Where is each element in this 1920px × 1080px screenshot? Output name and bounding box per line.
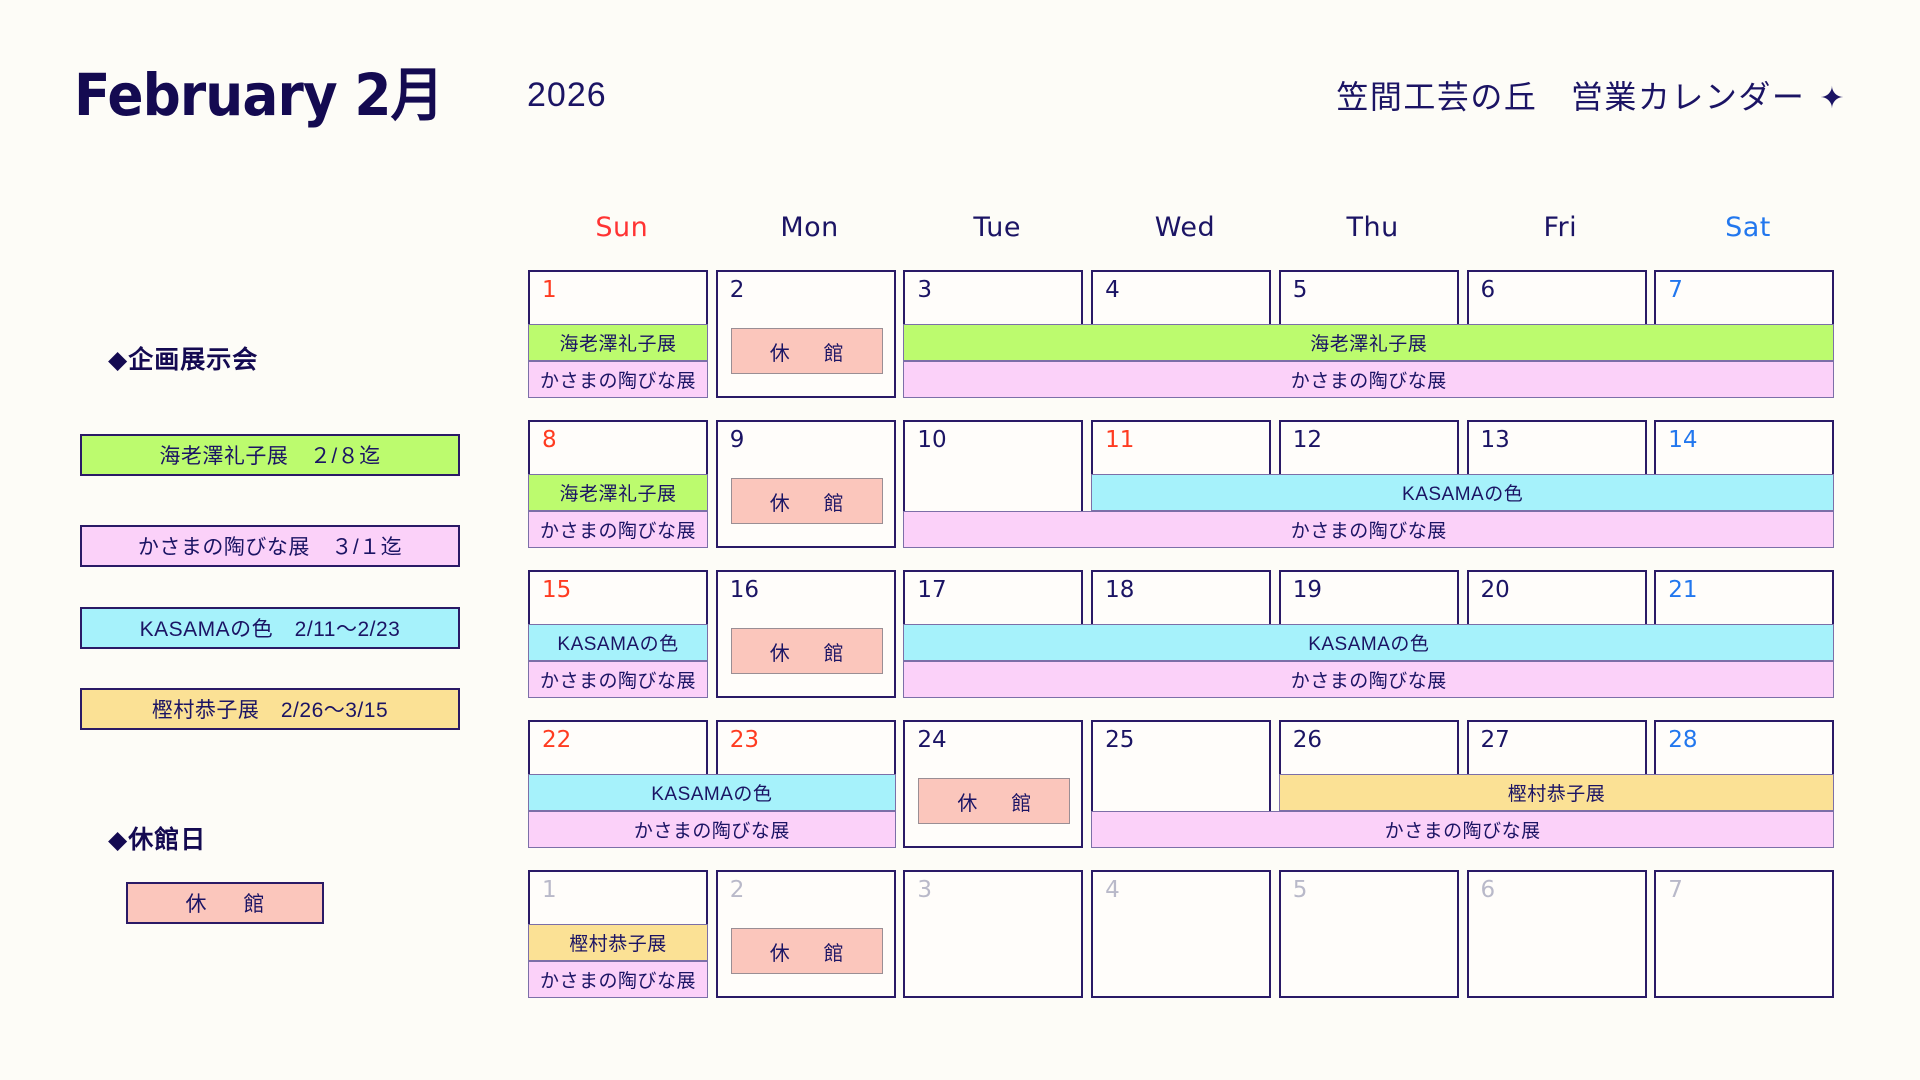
closed-badge: 休 館 — [731, 328, 883, 374]
legend-item[interactable]: かさまの陶びな展 ３/１迄 — [80, 525, 460, 567]
weekday-label-mon: Mon — [716, 212, 904, 270]
event-bar[interactable]: かさまの陶びな展 — [903, 661, 1834, 698]
day-number: 28 — [1668, 727, 1697, 753]
day-number: 11 — [1105, 427, 1134, 453]
legend-item[interactable]: 海老澤礼子展 ２/８迄 — [80, 434, 460, 476]
legend-closed-heading: ◆休館日 — [108, 820, 206, 856]
venue-title: 笠間工芸の丘 営業カレンダー✦ — [1336, 72, 1846, 118]
event-bar[interactable]: 樫村恭子展 — [1279, 774, 1834, 811]
event-bar[interactable]: 海老澤礼子展 — [528, 474, 708, 511]
weekday-label-fri: Fri — [1466, 212, 1654, 270]
calendar-day-cell[interactable]: 2休 館 — [716, 870, 896, 998]
day-number: 17 — [917, 577, 946, 603]
day-number: 14 — [1668, 427, 1697, 453]
calendar-week-row: 222324休 館25262728KASAMAの色かさまの陶びな展樫村恭子展かさ… — [528, 720, 1842, 870]
calendar-day-cell[interactable]: 5 — [1279, 870, 1459, 998]
day-number: 6 — [1481, 277, 1496, 303]
closed-badge: 休 館 — [918, 778, 1070, 824]
closed-badge: 休 館 — [731, 478, 883, 524]
day-number: 10 — [917, 427, 946, 453]
legend-exhibitions-heading: ◆企画展示会 — [108, 340, 258, 376]
event-bar[interactable]: KASAMAの色 — [903, 624, 1834, 661]
day-number: 1 — [542, 877, 557, 903]
day-number: 12 — [1293, 427, 1322, 453]
calendar-day-cell[interactable]: 2休 館 — [716, 270, 896, 398]
day-number: 18 — [1105, 577, 1134, 603]
event-bar[interactable]: かさまの陶びな展 — [903, 511, 1834, 548]
calendar-grid: SunMonTueWedThuFriSat 12休 館34567海老澤礼子展かさ… — [528, 212, 1842, 1020]
calendar-day-cell[interactable]: 24休 館 — [903, 720, 1083, 848]
calendar-week-row: 89休 館1011121314海老澤礼子展かさまの陶びな展KASAMAの色かさま… — [528, 420, 1842, 570]
day-number: 16 — [730, 577, 759, 603]
day-number: 8 — [542, 427, 557, 453]
calendar-week-row: 1516休 館1718192021KASAMAの色かさまの陶びな展KASAMAの… — [528, 570, 1842, 720]
day-number: 5 — [1293, 277, 1308, 303]
calendar-day-cell[interactable]: 4 — [1091, 870, 1271, 998]
event-bar[interactable]: かさまの陶びな展 — [528, 811, 896, 848]
event-bar[interactable]: 海老澤礼子展 — [903, 324, 1834, 361]
event-bar[interactable]: かさまの陶びな展 — [528, 961, 708, 998]
event-bar[interactable]: かさまの陶びな展 — [528, 661, 708, 698]
day-number: 23 — [730, 727, 759, 753]
event-bar[interactable]: KASAMAの色 — [528, 774, 896, 811]
day-number: 2 — [730, 277, 745, 303]
event-bar[interactable]: KASAMAの色 — [1091, 474, 1834, 511]
calendar-day-cell[interactable]: 9休 館 — [716, 420, 896, 548]
closed-badge: 休 館 — [731, 928, 883, 974]
venue-title-text: 笠間工芸の丘 営業カレンダー — [1336, 79, 1805, 115]
day-number: 9 — [730, 427, 745, 453]
day-number: 2 — [730, 877, 745, 903]
calendar-day-cell[interactable]: 16休 館 — [716, 570, 896, 698]
day-number: 7 — [1668, 877, 1683, 903]
day-number: 15 — [542, 577, 571, 603]
day-number: 5 — [1293, 877, 1308, 903]
calendar-week-row: 12休 館34567樫村恭子展かさまの陶びな展 — [528, 870, 1842, 1020]
calendar-page: February 2月 2026 笠間工芸の丘 営業カレンダー✦ ◆企画展示会 … — [0, 0, 1920, 1080]
event-bar[interactable]: かさまの陶びな展 — [528, 511, 708, 548]
day-number: 22 — [542, 727, 571, 753]
day-number: 6 — [1481, 877, 1496, 903]
day-number: 20 — [1481, 577, 1510, 603]
year-label: 2026 — [527, 76, 607, 115]
calendar-day-cell[interactable]: 7 — [1654, 870, 1834, 998]
event-bar[interactable]: KASAMAの色 — [528, 624, 708, 661]
day-number: 3 — [917, 877, 932, 903]
calendar-day-cell[interactable]: 6 — [1467, 870, 1647, 998]
sparkle-icon: ✦ — [1819, 82, 1846, 115]
page-title: February 2月 — [74, 48, 443, 132]
weekday-label-tue: Tue — [903, 212, 1091, 270]
day-number: 7 — [1668, 277, 1683, 303]
day-number: 24 — [917, 727, 946, 753]
day-number: 25 — [1105, 727, 1134, 753]
calendar-week-row: 12休 館34567海老澤礼子展かさまの陶びな展海老澤礼子展かさまの陶びな展 — [528, 270, 1842, 420]
weekday-label-thu: Thu — [1279, 212, 1467, 270]
day-number: 1 — [542, 277, 557, 303]
day-number: 27 — [1481, 727, 1510, 753]
calendar-weeks: 12休 館34567海老澤礼子展かさまの陶びな展海老澤礼子展かさまの陶びな展89… — [528, 270, 1842, 1020]
legend-item[interactable]: 樫村恭子展 2/26〜3/15 — [80, 688, 460, 730]
day-number: 3 — [917, 277, 932, 303]
event-bar[interactable]: かさまの陶びな展 — [528, 361, 708, 398]
day-number: 21 — [1668, 577, 1697, 603]
legend-item[interactable]: KASAMAの色 2/11〜2/23 — [80, 607, 460, 649]
weekday-label-sun: Sun — [528, 212, 716, 270]
weekday-label-wed: Wed — [1091, 212, 1279, 270]
day-number: 26 — [1293, 727, 1322, 753]
weekday-label-sat: Sat — [1654, 212, 1842, 270]
day-number: 4 — [1105, 877, 1120, 903]
day-number: 13 — [1481, 427, 1510, 453]
event-bar[interactable]: かさまの陶びな展 — [903, 361, 1834, 398]
calendar-day-cell[interactable]: 3 — [903, 870, 1083, 998]
event-bar[interactable]: 海老澤礼子展 — [528, 324, 708, 361]
weekday-header-row: SunMonTueWedThuFriSat — [528, 212, 1842, 270]
event-bar[interactable]: かさまの陶びな展 — [1091, 811, 1834, 848]
legend-closed-chip[interactable]: 休 館 — [126, 882, 324, 924]
event-bar[interactable]: 樫村恭子展 — [528, 924, 708, 961]
closed-badge: 休 館 — [731, 628, 883, 674]
day-number: 4 — [1105, 277, 1120, 303]
day-number: 19 — [1293, 577, 1322, 603]
